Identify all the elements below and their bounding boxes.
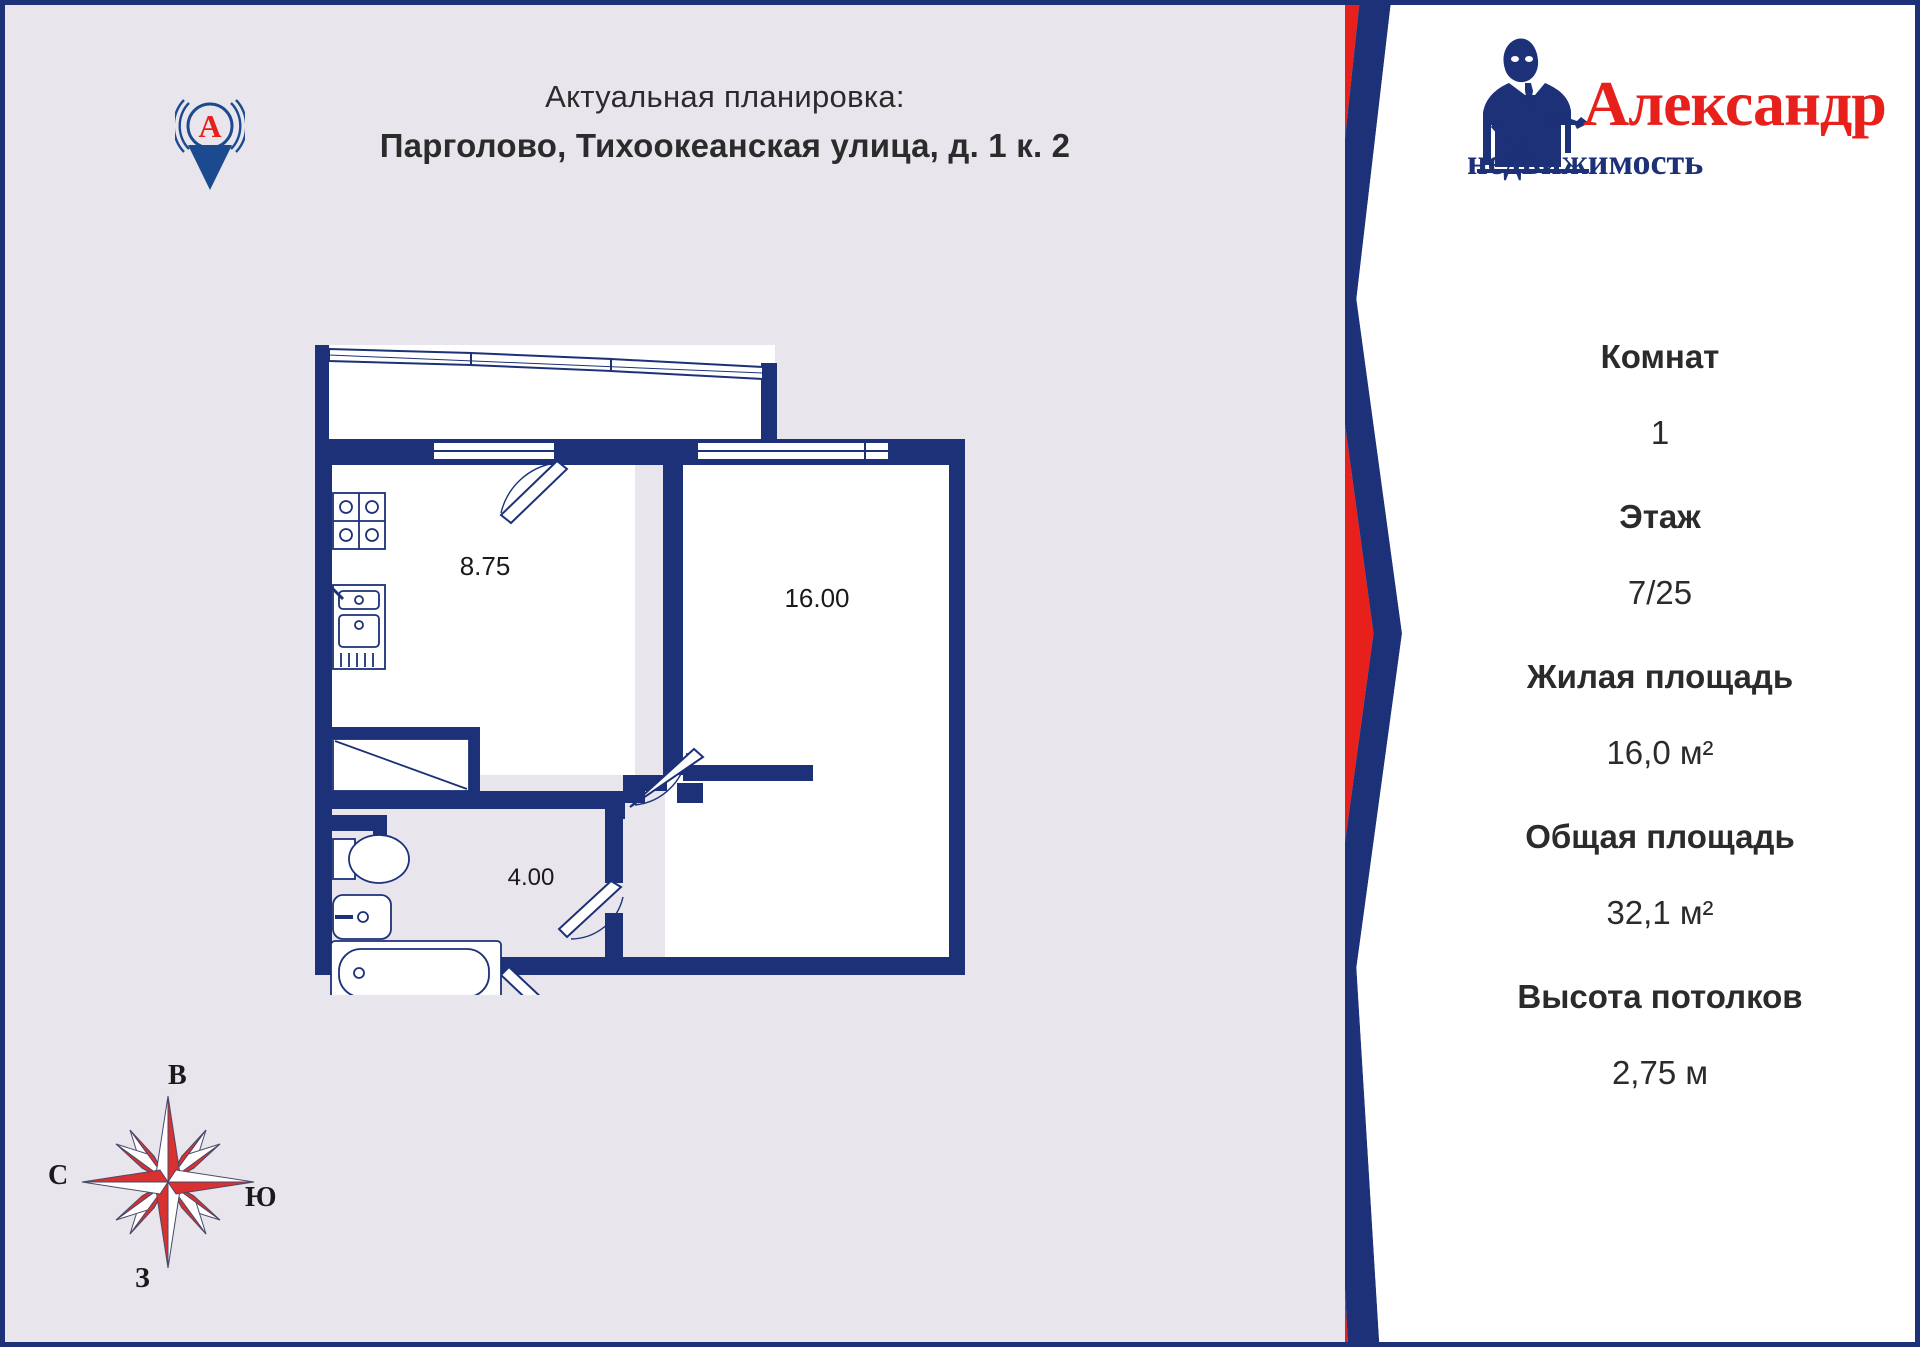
room-area-living: 16.00 (784, 583, 849, 613)
compass-star-icon (68, 1082, 268, 1282)
spec-list: Комнат 1 Этаж 7/25 Жилая площадь 16,0 м²… (1425, 335, 1895, 1095)
floorplan-drawing: 8.75 16.00 4.00 (305, 335, 1005, 995)
compass-rose: В С Ю З (40, 1060, 290, 1300)
spec-value-ceiling-height: 2,75 м (1425, 1051, 1895, 1095)
closet-icon (333, 739, 469, 791)
header-address: Парголово, Тихоокеанская улица, д. 1 к. … (295, 119, 1155, 173)
map-pin-icon: A (175, 87, 245, 192)
toilet-icon (333, 835, 409, 883)
spec-value-living-area: 16,0 м² (1425, 731, 1895, 775)
spec-value-total-area: 32,1 м² (1425, 891, 1895, 935)
washbasin-icon (333, 895, 391, 939)
kitchen-sink-icon (331, 585, 385, 669)
header-caption: Актуальная планировка: (295, 75, 1155, 119)
info-panel: Александр недвижимость Комнат 1 Этаж 7/2… (1345, 5, 1915, 1342)
spec-value-floor: 7/25 (1425, 571, 1895, 615)
spec-label-rooms: Комнат (1425, 335, 1895, 379)
spec-label-floor: Этаж (1425, 495, 1895, 539)
spec-value-rooms: 1 (1425, 411, 1895, 455)
spec-label-living-area: Жилая площадь (1425, 655, 1895, 699)
bathtub-icon (331, 941, 501, 995)
spec-label-ceiling-height: Высота потолков (1425, 975, 1895, 1019)
compass-label-left: С (48, 1160, 68, 1192)
stove-icon (333, 493, 385, 549)
brand-name: Александр (1583, 67, 1886, 141)
room-area-hall: 4.00 (508, 864, 555, 891)
spec-label-total-area: Общая площадь (1425, 815, 1895, 859)
header: A Актуальная планировка: Парголово, Тихо… (175, 75, 1175, 205)
room-area-kitchen: 8.75 (460, 551, 511, 581)
brand-logo: Александр недвижимость (1465, 25, 1905, 205)
svg-text:A: A (198, 108, 221, 144)
floorplan-page: A Актуальная планировка: Парголово, Тихо… (0, 0, 1920, 1347)
brand-subtitle: недвижимость (1467, 141, 1703, 183)
